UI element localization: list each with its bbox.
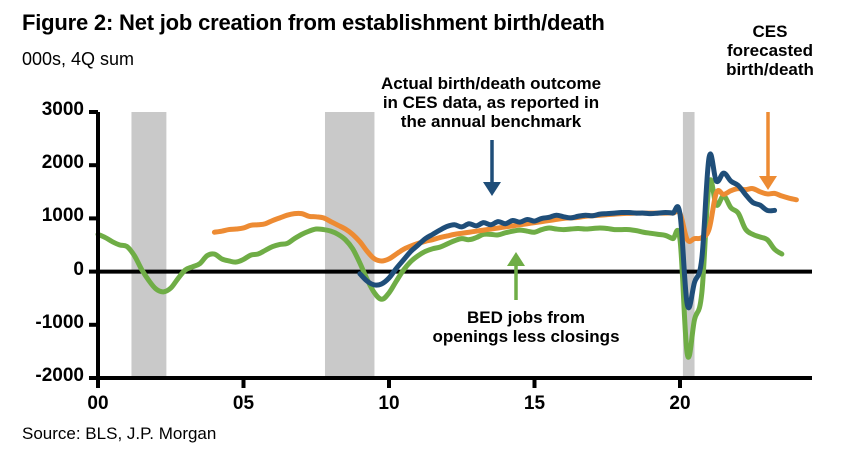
x-tick-label: 05 xyxy=(221,393,267,415)
y-tick-label: -2000 xyxy=(10,365,84,387)
annotation-actual-birth-death: Actual birth/death outcome in CES data, … xyxy=(357,74,625,131)
annotation-bed-jobs: BED jobs from openings less closings xyxy=(408,308,644,346)
y-tick-label: 3000 xyxy=(10,99,84,121)
x-tick-label: 15 xyxy=(512,393,558,415)
y-tick-label: -1000 xyxy=(10,312,84,334)
x-tick-label: 20 xyxy=(657,393,703,415)
y-tick-label: 0 xyxy=(10,259,84,281)
figure-container: Figure 2: Net job creation from establis… xyxy=(0,0,852,459)
x-tick-label: 10 xyxy=(366,393,412,415)
navy-annotation-arrow-head xyxy=(483,182,501,196)
recession-band xyxy=(131,112,166,378)
y-tick-label: 2000 xyxy=(10,152,84,174)
green-annotation-arrow-head xyxy=(507,252,525,266)
x-tick-label: 00 xyxy=(75,393,121,415)
source-note: Source: BLS, J.P. Morgan xyxy=(22,424,216,444)
orange-annotation-arrow-head xyxy=(759,176,777,190)
y-tick-label: 1000 xyxy=(10,205,84,227)
annotation-ces-forecast: CES forecasted birth/death xyxy=(700,22,840,79)
